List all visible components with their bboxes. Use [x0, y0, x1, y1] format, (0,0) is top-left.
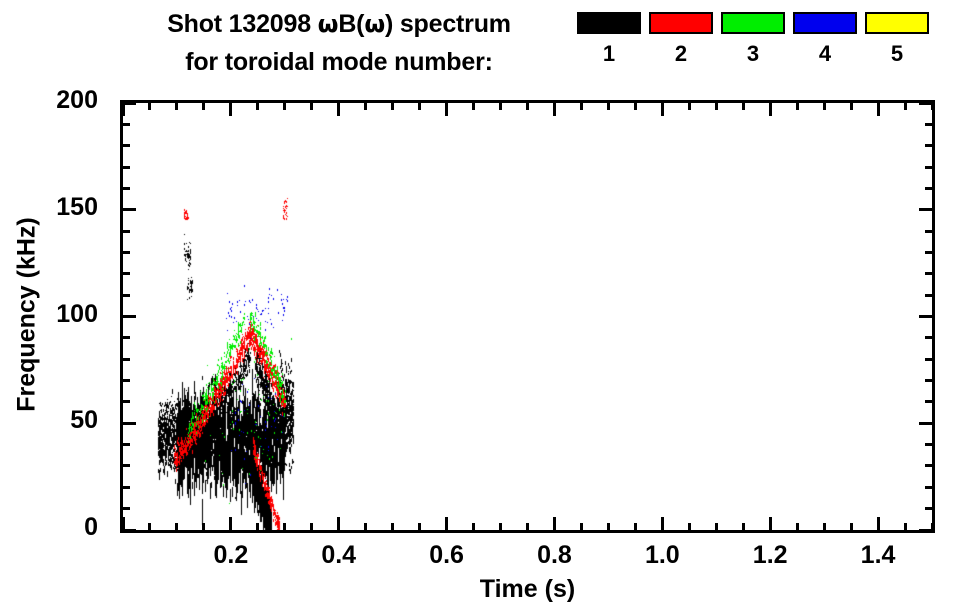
x-axis-title: Time (s) — [120, 575, 935, 604]
title-b-open: B( — [338, 10, 364, 38]
x-tick-label-0.8: 0.8 — [494, 541, 614, 570]
omega-symbol-2: ω — [364, 10, 385, 38]
omega-symbol-1: ω — [318, 10, 339, 38]
legend-label-2: 2 — [647, 42, 715, 66]
title-line-2: for toroidal mode number: — [104, 43, 574, 81]
x-tick-label-0.6: 0.6 — [387, 541, 507, 570]
legend-item-1: 1 — [575, 12, 643, 66]
x-tick-label-1.4: 1.4 — [818, 541, 938, 570]
legend-label-4: 4 — [791, 42, 859, 66]
legend-swatch-3 — [721, 12, 785, 34]
legend-swatch-4 — [793, 12, 857, 34]
legend-item-4: 4 — [791, 12, 859, 66]
y-axis-title: Frequency (kHz) — [13, 200, 42, 430]
right-axis-line — [932, 100, 935, 533]
plot-page: Shot 132098 ωB(ω) spectrum for toroidal … — [0, 0, 963, 615]
x-tick-label-1.2: 1.2 — [710, 541, 830, 570]
chart-title: Shot 132098 ωB(ω) spectrum for toroidal … — [104, 5, 574, 81]
legend-item-5: 5 — [863, 12, 931, 66]
title-shot-text: Shot 132098 — [167, 10, 317, 38]
legend-label-3: 3 — [719, 42, 787, 66]
legend-label-1: 1 — [575, 42, 643, 66]
x-tick-label-0.4: 0.4 — [279, 541, 399, 570]
legend-item-3: 3 — [719, 12, 787, 66]
legend-label-5: 5 — [863, 42, 931, 66]
y-tick-label-0: 0 — [0, 513, 98, 542]
x-axis-line — [120, 530, 935, 533]
title-spectrum-text: ) spectrum — [385, 10, 511, 38]
y-tick-label-200: 200 — [0, 86, 98, 115]
legend: 12345 — [575, 12, 955, 90]
legend-swatch-1 — [577, 12, 641, 34]
legend-item-2: 2 — [647, 12, 715, 66]
x-tick-label-1.0: 1.0 — [602, 541, 722, 570]
title-line-1: Shot 132098 ωB(ω) spectrum — [104, 5, 574, 43]
legend-swatch-5 — [865, 12, 929, 34]
legend-swatch-2 — [649, 12, 713, 34]
x-tick-label-0.2: 0.2 — [171, 541, 291, 570]
spectrogram-canvas — [123, 103, 932, 530]
